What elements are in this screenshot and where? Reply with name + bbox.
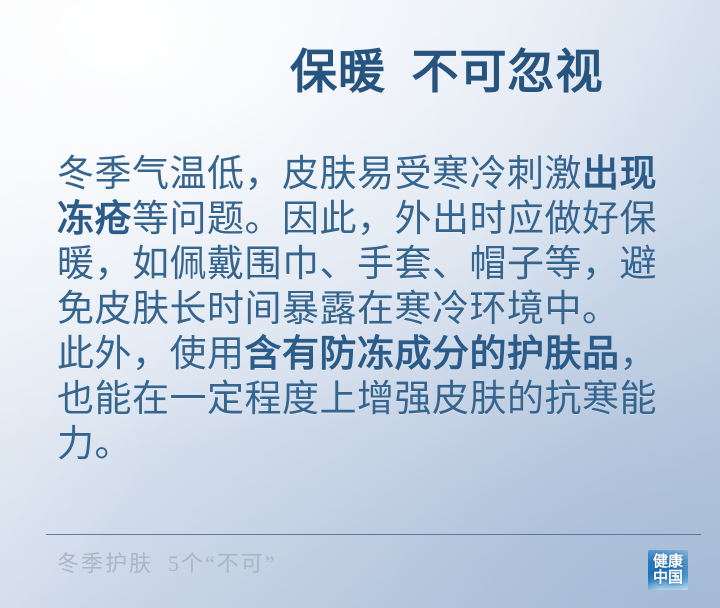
healthy-china-logo: 健康 中国 xyxy=(648,550,688,590)
paragraph-2: 此外，使用含有防冻成分的护肤品，也能在一定程度上增强皮肤的抗寒能力。 xyxy=(57,332,679,467)
page-title: 保暖 不可忽视 xyxy=(290,44,680,102)
text-run: 冬季气温低，皮肤易受寒冷刺激 xyxy=(57,154,582,195)
text-run: 此外，使用 xyxy=(57,334,245,375)
logo-text: 健康 中国 xyxy=(648,550,688,590)
poster-canvas: 保暖 不可忽视 冬季气温低，皮肤易受寒冷刺激出现冻疮等问题。因此，外出时应做好保… xyxy=(0,0,720,608)
paragraph-1: 冬季气温低，皮肤易受寒冷刺激出现冻疮等问题。因此，外出时应做好保暖，如佩戴围巾、… xyxy=(57,152,679,332)
text-run: 等问题。因此，外出时应做好保暖，如佩戴围巾、手套、帽子等，避免皮肤长时间暴露在寒… xyxy=(57,199,657,330)
logo-text-line1: 健康 xyxy=(653,554,683,570)
footer-divider xyxy=(46,534,701,535)
text-run-bold: 含有防冻成分的护肤品 xyxy=(245,334,620,375)
series-note: 冬季护肤 5个“不可” xyxy=(57,548,277,580)
body-text-block: 冬季气温低，皮肤易受寒冷刺激出现冻疮等问题。因此，外出时应做好保暖，如佩戴围巾、… xyxy=(57,152,679,467)
logo-text-line2: 中国 xyxy=(653,570,683,586)
